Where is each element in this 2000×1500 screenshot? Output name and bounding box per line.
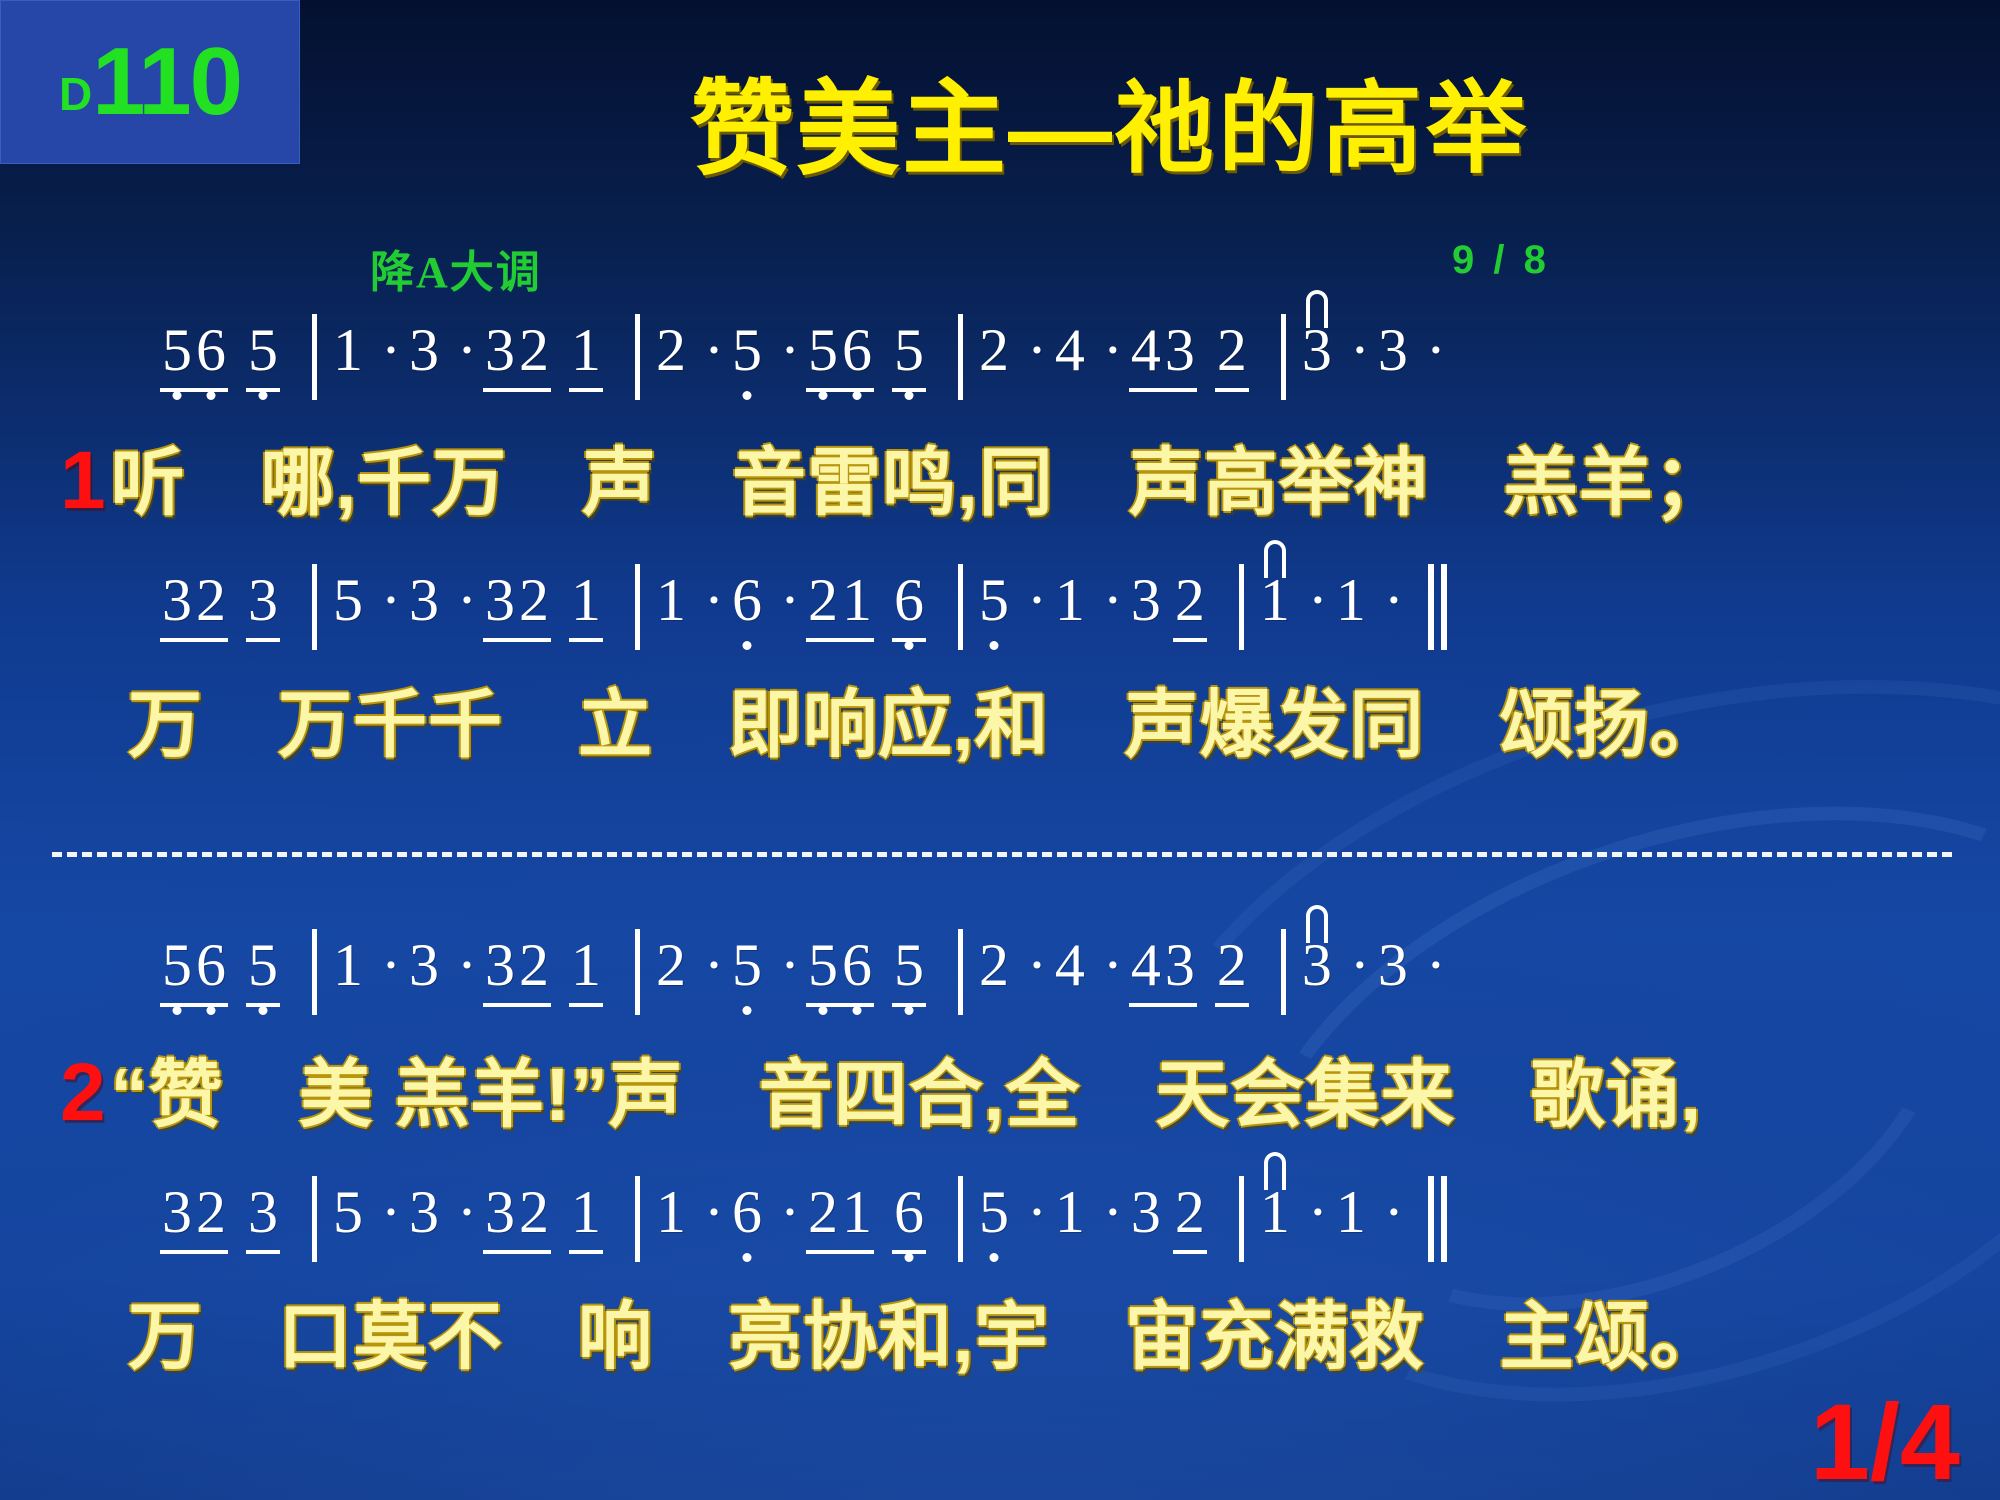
- note: 5: [246, 320, 280, 380]
- note: 6: [840, 935, 874, 995]
- music-meta-row: 降A大调 9 / 8: [0, 236, 2000, 292]
- note: 5: [892, 935, 926, 995]
- note: 2: [654, 935, 688, 995]
- notation-line-v2-b: 3235·3·3211·6·2165·1·321·1·: [0, 1182, 2000, 1268]
- duration-dot: ·: [451, 570, 483, 630]
- note: 1: [1334, 570, 1368, 630]
- duration-dot: ·: [774, 935, 806, 995]
- note: 2: [517, 935, 551, 995]
- beamed-note-group: 43: [1129, 935, 1197, 1007]
- note: 3: [246, 570, 280, 630]
- note-cell: 5: [977, 570, 1011, 630]
- note: 1: [569, 570, 603, 630]
- note: 5: [730, 935, 764, 995]
- note: 6: [840, 320, 874, 380]
- note-cell: 5: [977, 1182, 1011, 1242]
- tied-note: 1: [1258, 570, 1292, 630]
- hymn-number: 110: [92, 34, 241, 130]
- note-cell: 3: [1376, 320, 1410, 380]
- note: 3: [160, 1182, 194, 1242]
- duration-dot: ·: [1021, 935, 1053, 995]
- note-cell: 5: [246, 320, 280, 392]
- tied-note: 1: [1258, 1182, 1292, 1242]
- note: 3: [407, 935, 441, 995]
- note: 1: [331, 320, 365, 380]
- note-cell: 4: [1053, 320, 1087, 380]
- barline: [635, 314, 640, 400]
- note: 2: [517, 1182, 551, 1242]
- duration-dot: ·: [774, 570, 806, 630]
- duration-dot: ·: [698, 320, 730, 380]
- duration-dot: ·: [1097, 320, 1129, 380]
- note: 3: [1129, 1182, 1163, 1242]
- note: 1: [840, 570, 874, 630]
- note: 4: [1053, 935, 1087, 995]
- beamed-note-group: 32: [483, 935, 551, 1007]
- note-cell: 2: [1215, 935, 1249, 1007]
- barline: [1239, 564, 1244, 650]
- note: 5: [331, 1182, 365, 1242]
- beamed-note-group: 21: [806, 570, 874, 642]
- double-barline: [1428, 1176, 1447, 1262]
- duration-dot: ·: [1302, 570, 1334, 630]
- duration-dot: ·: [1021, 320, 1053, 380]
- note: 2: [654, 320, 688, 380]
- note-cell: 3: [1129, 1182, 1163, 1242]
- note: 6: [730, 570, 764, 630]
- duration-dot: ·: [1378, 1182, 1410, 1242]
- note: 3: [1163, 320, 1197, 380]
- duration-dot: ·: [1021, 570, 1053, 630]
- note: 3: [1300, 320, 1334, 380]
- note: 1: [1258, 1182, 1292, 1242]
- note: 2: [977, 320, 1011, 380]
- note-cell: 6: [730, 1182, 764, 1242]
- note: 2: [517, 320, 551, 380]
- note: 4: [1129, 935, 1163, 995]
- duration-dot: ·: [375, 935, 407, 995]
- duration-dot: ·: [451, 935, 483, 995]
- note: 3: [1129, 570, 1163, 630]
- slide-canvas: D 110 赞美主—祂的高举 降A大调 9 / 8 5651·3·3212·5·…: [0, 0, 2000, 1500]
- lyrics-text: 万 口莫不 响 亮协和,宇 宙充满救 主颂。: [128, 1295, 1725, 1378]
- barline: [1281, 314, 1286, 400]
- duration-dot: ·: [1097, 1182, 1129, 1242]
- barline: [958, 1176, 963, 1262]
- note: 4: [1053, 320, 1087, 380]
- lyrics-text: “赞 美 羔羊!”声 音四合,全 天会集来 歌诵,: [111, 1053, 1702, 1136]
- note-cell: 1: [1334, 570, 1368, 630]
- note-cell: 6: [892, 1182, 926, 1254]
- title-main: 赞美主—: [690, 72, 1114, 188]
- note-cell: 3: [1376, 935, 1410, 995]
- note-cell: 2: [1173, 1182, 1207, 1254]
- barline: [958, 929, 963, 1015]
- note: 5: [730, 320, 764, 380]
- duration-dot: ·: [1021, 1182, 1053, 1242]
- note-cell: 1: [654, 570, 688, 630]
- note-cell: 6: [730, 570, 764, 630]
- note: 5: [246, 935, 280, 995]
- barline: [312, 564, 317, 650]
- note-cell: 1: [569, 320, 603, 392]
- note-cell: 2: [977, 320, 1011, 380]
- note: 1: [840, 1182, 874, 1242]
- note: 3: [483, 935, 517, 995]
- notation-line-v1-a: 5651·3·3212·5·5652·4·4323·3·: [0, 320, 2000, 406]
- note: 4: [1129, 320, 1163, 380]
- note-cell: 3: [246, 1182, 280, 1254]
- beamed-note-group: 56: [160, 320, 228, 392]
- note: 1: [569, 1182, 603, 1242]
- verse-number: 2: [60, 1047, 111, 1138]
- note: 1: [569, 320, 603, 380]
- note: 1: [1258, 570, 1292, 630]
- beamed-note-group: 32: [483, 570, 551, 642]
- barline: [312, 314, 317, 400]
- lyrics-line-v2-b: 万 口莫不 响 亮协和,宇 宙充满救 主颂。: [128, 1300, 2000, 1374]
- beamed-note-group: 43: [1129, 320, 1197, 392]
- barline: [635, 929, 640, 1015]
- note-cell: 1: [569, 570, 603, 642]
- duration-dot: ·: [698, 570, 730, 630]
- note: 2: [977, 935, 1011, 995]
- note: 2: [1215, 320, 1249, 380]
- title-subtitle: 祂的高举: [1114, 74, 1530, 185]
- note-cell: 5: [246, 935, 280, 1007]
- duration-dot: ·: [1420, 320, 1452, 380]
- duration-dot: ·: [774, 320, 806, 380]
- duration-dot: ·: [375, 320, 407, 380]
- duration-dot: ·: [1420, 935, 1452, 995]
- beamed-note-group: 32: [483, 320, 551, 392]
- note: 1: [1053, 1182, 1087, 1242]
- note: 3: [407, 1182, 441, 1242]
- beamed-note-group: 32: [160, 570, 228, 642]
- duration-dot: ·: [774, 1182, 806, 1242]
- note: 6: [892, 570, 926, 630]
- note: 1: [654, 1182, 688, 1242]
- note: 3: [483, 570, 517, 630]
- duration-dot: ·: [1344, 320, 1376, 380]
- note: 5: [977, 1182, 1011, 1242]
- note: 6: [892, 1182, 926, 1242]
- note: 5: [160, 320, 194, 380]
- barline: [958, 314, 963, 400]
- note: 1: [1053, 570, 1087, 630]
- note: 1: [654, 570, 688, 630]
- note-cell: 1: [1053, 1182, 1087, 1242]
- notation-line-v2-a: 5651·3·3212·5·5652·4·4323·3·: [0, 935, 2000, 1021]
- note-cell: 3: [407, 320, 441, 380]
- note: 3: [1163, 935, 1197, 995]
- duration-dot: ·: [1302, 1182, 1334, 1242]
- note-cell: 3: [407, 935, 441, 995]
- verse-number: 1: [60, 435, 111, 526]
- note-cell: 1: [1053, 570, 1087, 630]
- note: 5: [806, 320, 840, 380]
- duration-dot: ·: [375, 570, 407, 630]
- note: 5: [806, 935, 840, 995]
- beamed-note-group: 56: [806, 320, 874, 392]
- note: 2: [1215, 935, 1249, 995]
- lyrics-line-v1-a: 1听 哪,千万 声 音雷鸣,同 声高举神 羔羊；: [60, 440, 2000, 522]
- duration-dot: ·: [1097, 935, 1129, 995]
- barline: [312, 929, 317, 1015]
- note: 3: [407, 320, 441, 380]
- note-cell: 1: [331, 320, 365, 380]
- note-cell: 1: [331, 935, 365, 995]
- note: 1: [1334, 1182, 1368, 1242]
- note: 5: [160, 935, 194, 995]
- note: 2: [194, 570, 228, 630]
- double-barline: [1428, 564, 1447, 650]
- note-cell: 2: [977, 935, 1011, 995]
- note-cell: 1: [569, 935, 603, 1007]
- note-cell: 4: [1053, 935, 1087, 995]
- duration-dot: ·: [1097, 570, 1129, 630]
- note-cell: 5: [892, 320, 926, 392]
- barline: [635, 564, 640, 650]
- page-title: 赞美主—祂的高举: [300, 44, 1920, 195]
- note: 6: [194, 935, 228, 995]
- beamed-note-group: 56: [806, 935, 874, 1007]
- tied-note: 3: [1300, 320, 1334, 380]
- notation-line-v1-b: 3235·3·3211·6·2165·1·321·1·: [0, 570, 2000, 656]
- duration-dot: ·: [698, 935, 730, 995]
- verse-divider: [52, 852, 1952, 857]
- note-cell: 5: [331, 1182, 365, 1242]
- hymn-number-badge: D 110: [0, 0, 300, 164]
- note: 2: [517, 570, 551, 630]
- note-cell: 1: [569, 1182, 603, 1254]
- barline: [1239, 1176, 1244, 1262]
- lyrics-line-v1-b: 万 万千千 立 即响应,和 声爆发同 颂扬。: [128, 688, 2000, 762]
- note: 2: [806, 1182, 840, 1242]
- note: 2: [1173, 1182, 1207, 1242]
- note-cell: 5: [730, 320, 764, 380]
- duration-dot: ·: [451, 1182, 483, 1242]
- note-cell: 5: [331, 570, 365, 630]
- note: 1: [331, 935, 365, 995]
- time-signature: 9 / 8: [1452, 238, 1550, 283]
- key-signature: 降A大调: [370, 236, 542, 300]
- lyrics-text: 万 万千千 立 即响应,和 声爆发同 颂扬。: [128, 683, 1725, 766]
- note-cell: 3: [246, 570, 280, 642]
- note-cell: 3: [407, 1182, 441, 1242]
- note: 2: [806, 570, 840, 630]
- lyrics-text: 听 哪,千万 声 音雷鸣,同 声高举神 羔羊；: [111, 441, 1729, 524]
- note: 3: [407, 570, 441, 630]
- note-cell: 2: [654, 320, 688, 380]
- page-indicator: 1/4: [1810, 1388, 1960, 1496]
- barline: [635, 1176, 640, 1262]
- note: 6: [730, 1182, 764, 1242]
- note-cell: 2: [654, 935, 688, 995]
- note: 2: [194, 1182, 228, 1242]
- beamed-note-group: 32: [483, 1182, 551, 1254]
- note: 3: [483, 320, 517, 380]
- note-cell: 2: [1215, 320, 1249, 392]
- note-cell: 5: [730, 935, 764, 995]
- barline: [1281, 929, 1286, 1015]
- note-cell: 2: [1173, 570, 1207, 642]
- note: 5: [977, 570, 1011, 630]
- note: 3: [483, 1182, 517, 1242]
- duration-dot: ·: [375, 1182, 407, 1242]
- note: 6: [194, 320, 228, 380]
- note-cell: 1: [654, 1182, 688, 1242]
- note: 1: [569, 935, 603, 995]
- duration-dot: ·: [698, 1182, 730, 1242]
- beamed-note-group: 32: [160, 1182, 228, 1254]
- lyrics-line-v2-a: 2“赞 美 羔羊!”声 音四合,全 天会集来 歌诵,: [60, 1052, 2000, 1134]
- note: 3: [160, 570, 194, 630]
- hymn-book-prefix: D: [59, 47, 92, 117]
- note: 5: [331, 570, 365, 630]
- note: 3: [246, 1182, 280, 1242]
- barline: [312, 1176, 317, 1262]
- beamed-note-group: 56: [160, 935, 228, 1007]
- note-cell: 6: [892, 570, 926, 642]
- note-cell: 3: [407, 570, 441, 630]
- beamed-note-group: 21: [806, 1182, 874, 1254]
- barline: [958, 564, 963, 650]
- note: 3: [1376, 320, 1410, 380]
- duration-dot: ·: [1378, 570, 1410, 630]
- note-cell: 5: [892, 935, 926, 1007]
- tied-note: 3: [1300, 935, 1334, 995]
- note: 3: [1376, 935, 1410, 995]
- duration-dot: ·: [451, 320, 483, 380]
- duration-dot: ·: [1344, 935, 1376, 995]
- note-cell: 3: [1129, 570, 1163, 630]
- note-cell: 1: [1334, 1182, 1368, 1242]
- note: 2: [1173, 570, 1207, 630]
- note: 3: [1300, 935, 1334, 995]
- note: 5: [892, 320, 926, 380]
